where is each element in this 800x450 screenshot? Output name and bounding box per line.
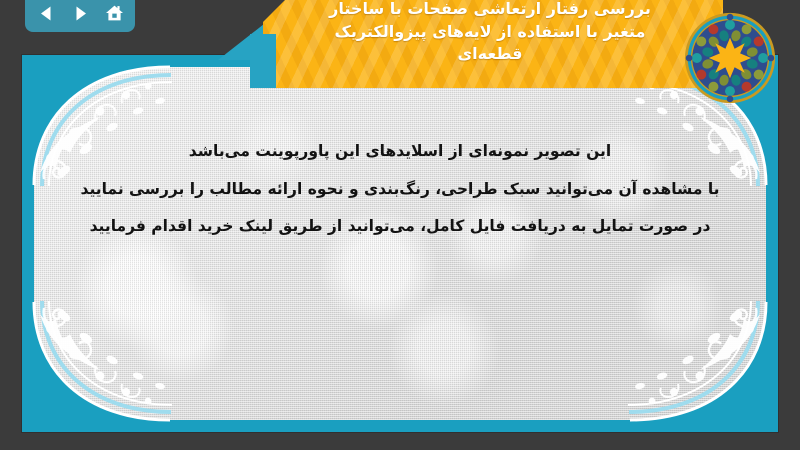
navigation-bar bbox=[25, 0, 135, 32]
banner-notch bbox=[250, 34, 276, 88]
body-line-1: این تصویر نمونه‌ای از اسلایدهای این پاور… bbox=[62, 133, 738, 171]
persian-rosette-medallion-icon bbox=[684, 12, 776, 104]
body-line-2: با مشاهده آن می‌توانید سبک طراحی، رنگ‌بن… bbox=[62, 171, 738, 209]
slide-root: بررسی رفتار ارتعاشی صفحات با ساختار متغی… bbox=[0, 0, 800, 450]
title-line-3: قطعه‌ای bbox=[279, 43, 701, 66]
title-line-1: بررسی رفتار ارتعاشی صفحات با ساختار bbox=[279, 0, 701, 21]
next-slide-button[interactable] bbox=[66, 0, 94, 26]
slide-body-text: این تصویر نمونه‌ای از اسلایدهای این پاور… bbox=[62, 133, 738, 246]
title-line-2: متغیر با استفاده از لایه‌های پیزوالکتریک bbox=[279, 21, 701, 44]
page-title: بررسی رفتار ارتعاشی صفحات با ساختار متغی… bbox=[263, 0, 723, 66]
title-banner: بررسی رفتار ارتعاشی صفحات با ساختار متغی… bbox=[263, 0, 723, 88]
prev-slide-button[interactable] bbox=[32, 0, 60, 26]
home-button[interactable] bbox=[100, 0, 128, 26]
body-line-3: در صورت تمایل به دریافت فایل کامل، می‌تو… bbox=[62, 208, 738, 246]
content-frame: این تصویر نمونه‌ای از اسلایدهای این پاور… bbox=[22, 55, 778, 432]
